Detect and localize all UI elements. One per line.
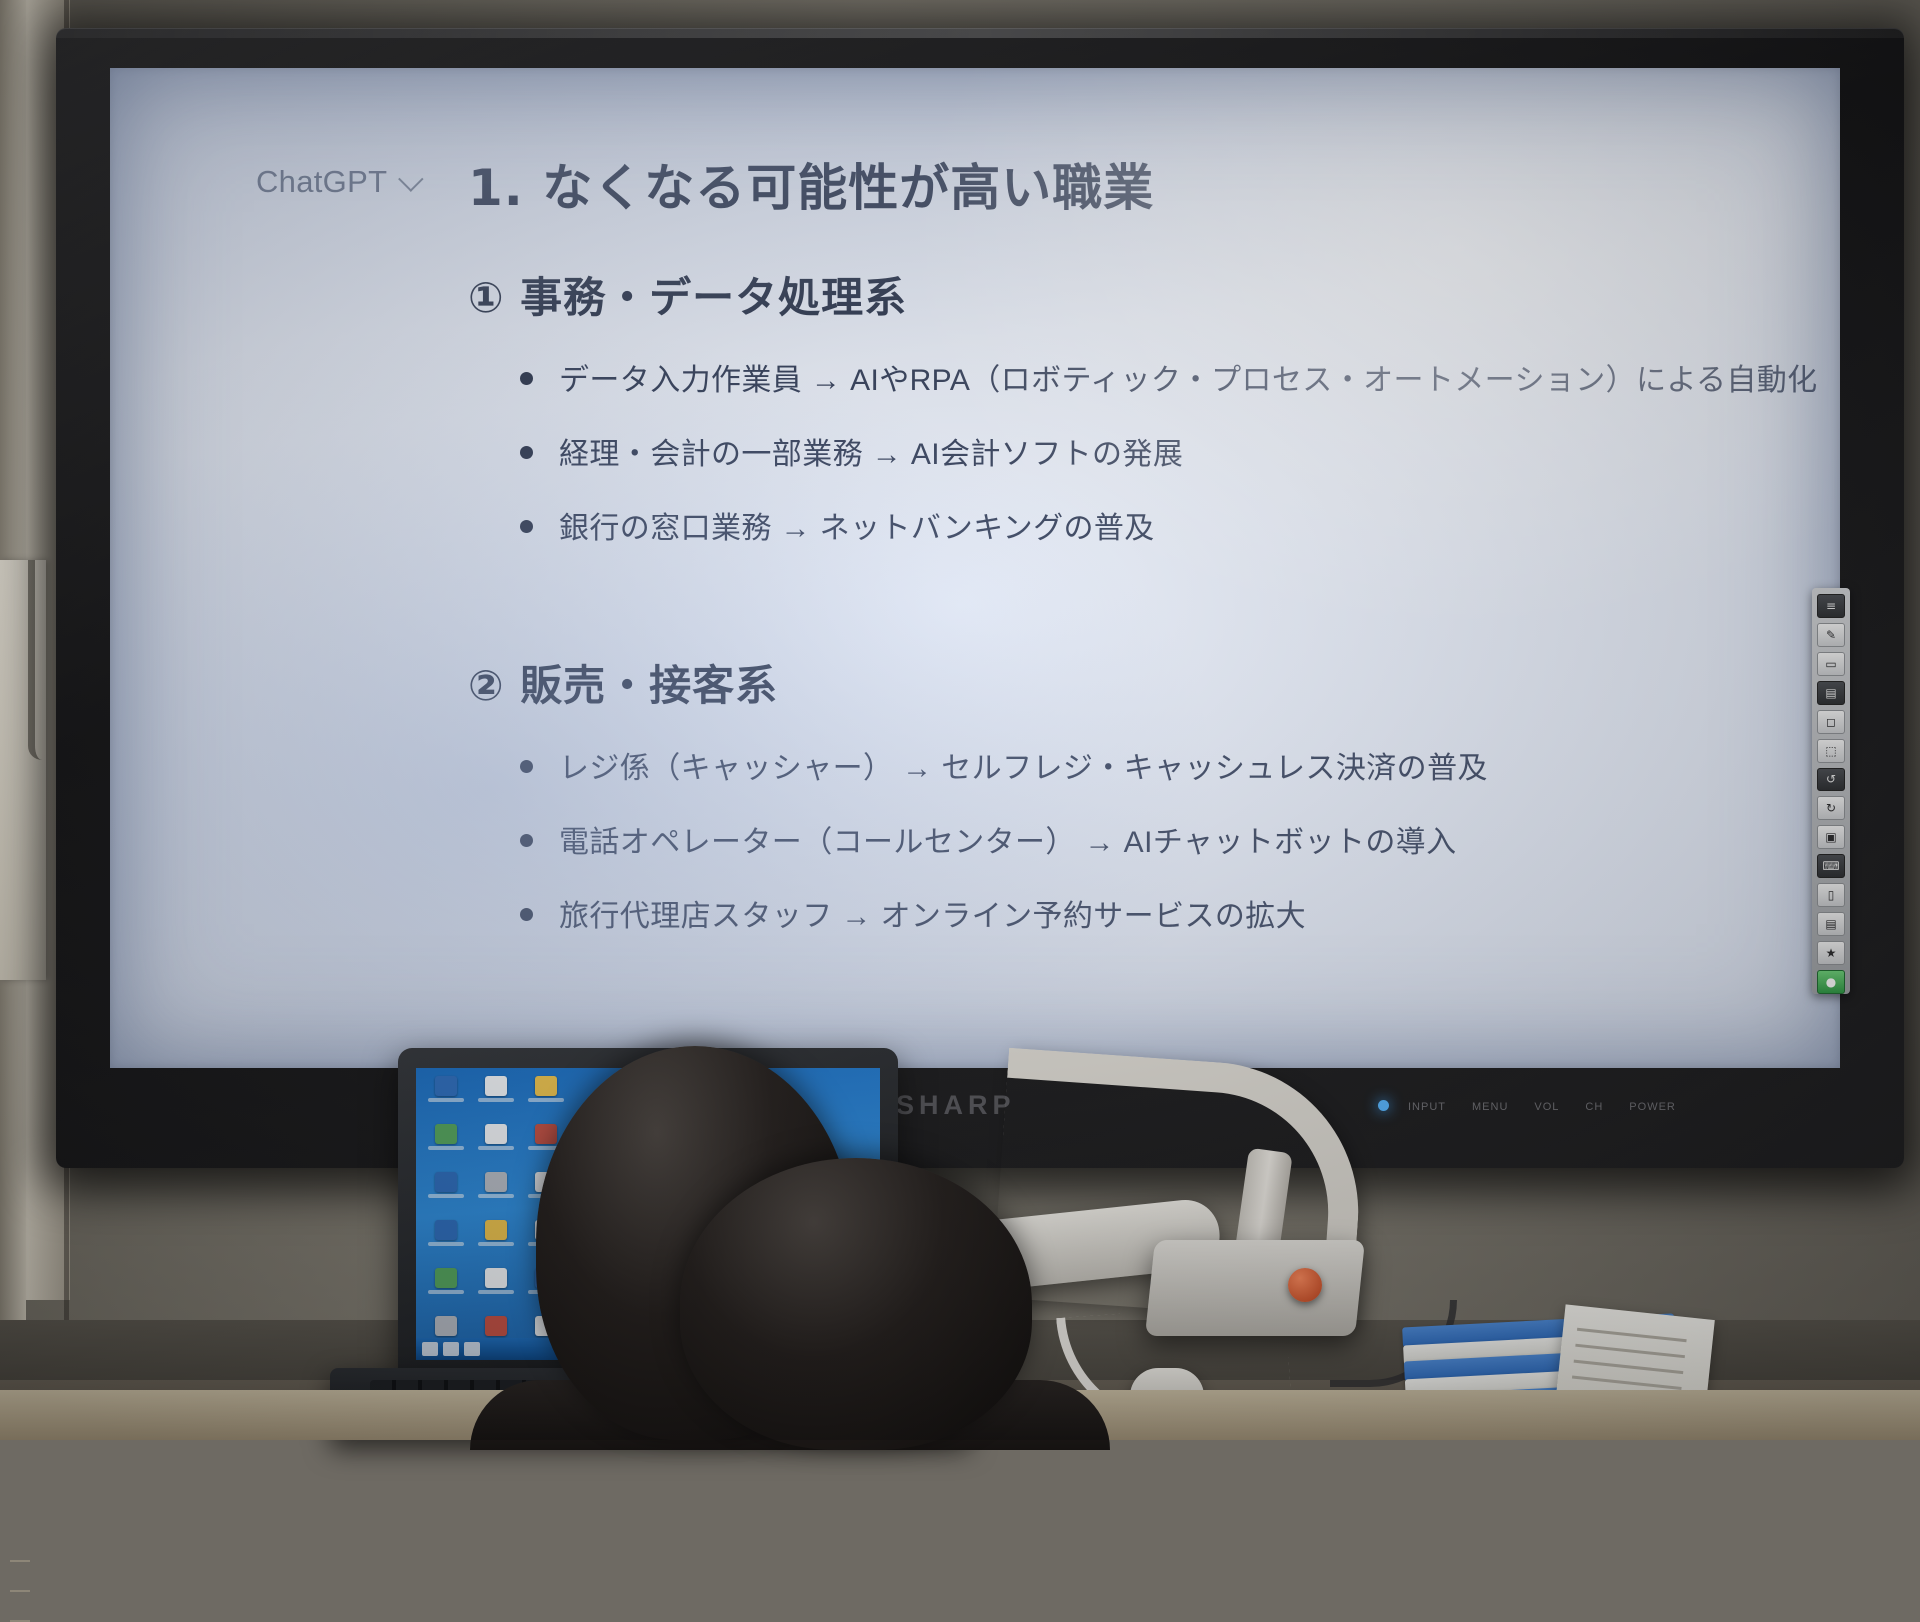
list-item: 電話オペレーター（コールセンター） → AIチャットボットの導入	[468, 817, 1488, 861]
desktop-icon[interactable]	[424, 1172, 468, 1212]
settings-icon[interactable]: ●	[1817, 970, 1845, 994]
section-heading: ② 販売・接客系	[468, 652, 1488, 713]
keyboard-icon[interactable]: ⌨	[1817, 854, 1845, 878]
desktop-icon[interactable]	[474, 1172, 518, 1212]
document-camera-knob[interactable]	[1288, 1268, 1322, 1302]
bezel-key[interactable]: MENU	[1472, 1101, 1508, 1113]
bullet-dot-icon	[520, 760, 533, 773]
bezel-highlight	[56, 28, 1904, 38]
section-bullet-list: レジ係（キャッシャー） → セルフレジ・キャッシュレス決済の普及 電話オペレータ…	[468, 743, 1488, 935]
chatgpt-model-chip[interactable]: ChatGPT	[256, 164, 417, 200]
desktop-icon[interactable]	[474, 1220, 518, 1260]
redo-icon[interactable]: ↻	[1817, 796, 1845, 820]
display-side-toolbar[interactable]: ≡ ✎ ▭ ▤ ◻ ⬚ ↺ ↻ ▣ ⌨ ▯ ▤ ★ ●	[1812, 588, 1850, 994]
bezel-key[interactable]: CH	[1585, 1101, 1603, 1113]
bullet-text: レジ係（キャッシャー） → セルフレジ・キャッシュレス決済の普及	[559, 743, 1488, 787]
desktop-icon[interactable]	[424, 1124, 468, 1164]
bullet-dot-icon	[520, 908, 533, 921]
chevron-down-icon[interactable]	[398, 166, 423, 191]
list-item: 経理・会計の一部業務 → AI会計ソフトの発展	[468, 429, 1818, 473]
student-head-front	[680, 1158, 1032, 1450]
menu-icon[interactable]: ≡	[1817, 594, 1845, 618]
bullet-text: 経理・会計の一部業務 → AI会計ソフトの発展	[559, 429, 1183, 473]
display-screen[interactable]: ChatGPT 1. なくなる可能性が高い職業 ① 事務・データ処理系 データ入…	[110, 68, 1840, 1068]
section-bullet-list: データ入力作業員 → AIやRPA（ロボティック・プロセス・オートメーション）に…	[468, 355, 1818, 547]
bullet-dot-icon	[520, 446, 533, 459]
chatgpt-label: ChatGPT	[256, 164, 387, 200]
presentation-slide: ChatGPT 1. なくなる可能性が高い職業 ① 事務・データ処理系 データ入…	[110, 68, 1840, 1068]
desktop-icon[interactable]	[474, 1076, 518, 1116]
bezel-key[interactable]: INPUT	[1408, 1101, 1446, 1113]
slide-title: 1. なくなる可能性が高い職業	[468, 148, 1154, 220]
poster-line	[10, 1590, 30, 1592]
list-item: 銀行の窓口業務 → ネットバンキングの普及	[468, 503, 1818, 547]
desktop-icon[interactable]	[524, 1076, 568, 1116]
sharp-brand-logo: SHARP	[896, 1090, 1016, 1121]
highlighter-icon[interactable]: ▤	[1817, 681, 1845, 705]
bezel-key[interactable]: VOL	[1534, 1101, 1559, 1113]
desktop-icon[interactable]	[424, 1268, 468, 1308]
undo-icon[interactable]: ↺	[1817, 768, 1845, 792]
taskbar-item[interactable]	[422, 1342, 438, 1356]
bullet-text: 電話オペレーター（コールセンター） → AIチャットボットの導入	[559, 817, 1457, 861]
bullet-dot-icon	[520, 372, 533, 385]
bullet-dot-icon	[520, 520, 533, 533]
desktop-icon[interactable]	[474, 1268, 518, 1308]
section-heading: ① 事務・データ処理系	[468, 264, 1818, 325]
classroom-scene: ChatGPT 1. なくなる可能性が高い職業 ① 事務・データ処理系 データ入…	[0, 0, 1920, 1440]
save-icon[interactable]: ▤	[1817, 912, 1845, 936]
bullet-text: データ入力作業員 → AIやRPA（ロボティック・プロセス・オートメーション）に…	[559, 355, 1818, 399]
desktop-icon[interactable]	[424, 1076, 468, 1116]
eraser-icon[interactable]: ▭	[1817, 652, 1845, 676]
slide-section-1: ① 事務・データ処理系 データ入力作業員 → AIやRPA（ロボティック・プロセ…	[468, 264, 1818, 547]
list-item: 旅行代理店スタッフ → オンライン予約サービスの拡大	[468, 891, 1488, 935]
page-icon[interactable]: ▯	[1817, 883, 1845, 907]
taskbar-item[interactable]	[443, 1342, 459, 1356]
taskbar-item[interactable]	[464, 1342, 480, 1356]
slide-section-2: ② 販売・接客系 レジ係（キャッシャー） → セルフレジ・キャッシュレス決済の普…	[468, 652, 1488, 935]
select-icon[interactable]: ⬚	[1817, 739, 1845, 763]
desktop-icon[interactable]	[474, 1124, 518, 1164]
bezel-key-row[interactable]: INPUT MENU VOL CH POWER	[1408, 1101, 1676, 1113]
shapes-icon[interactable]: ◻	[1817, 710, 1845, 734]
interactive-display[interactable]: ChatGPT 1. なくなる可能性が高い職業 ① 事務・データ処理系 データ入…	[56, 28, 1904, 1168]
star-icon[interactable]: ★	[1817, 941, 1845, 965]
bullet-text: 銀行の窓口業務 → ネットバンキングの普及	[559, 503, 1155, 547]
bullet-dot-icon	[520, 834, 533, 847]
poster-line	[10, 1560, 30, 1562]
power-led-indicator	[1378, 1100, 1389, 1111]
list-item: データ入力作業員 → AIやRPA（ロボティック・プロセス・オートメーション）に…	[468, 355, 1818, 399]
desktop-icon[interactable]	[424, 1220, 468, 1260]
list-item: レジ係（キャッシャー） → セルフレジ・キャッシュレス決済の普及	[468, 743, 1488, 787]
pen-icon[interactable]: ✎	[1817, 623, 1845, 647]
bezel-key[interactable]: POWER	[1629, 1101, 1676, 1113]
capture-icon[interactable]: ▣	[1817, 825, 1845, 849]
bullet-text: 旅行代理店スタッフ → オンライン予約サービスの拡大	[559, 891, 1306, 935]
